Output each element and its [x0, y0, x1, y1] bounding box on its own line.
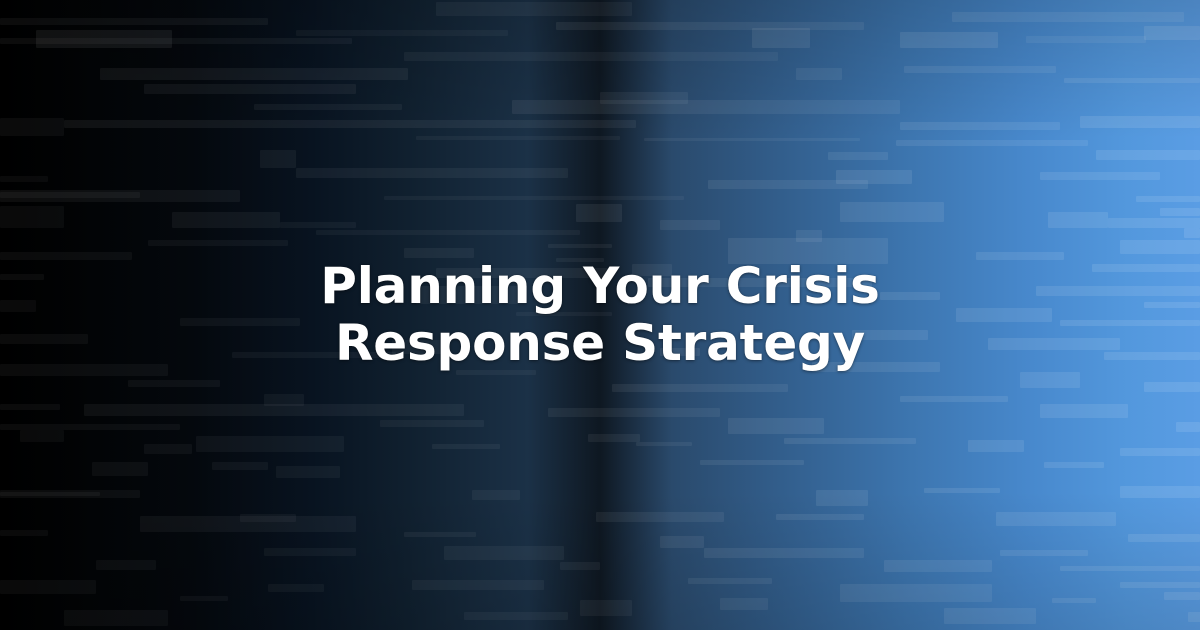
og-card: Planning Your Crisis Response Strategy	[0, 0, 1200, 630]
page-title: Planning Your Crisis Response Strategy	[220, 258, 980, 372]
title-container: Planning Your Crisis Response Strategy	[0, 0, 1200, 630]
